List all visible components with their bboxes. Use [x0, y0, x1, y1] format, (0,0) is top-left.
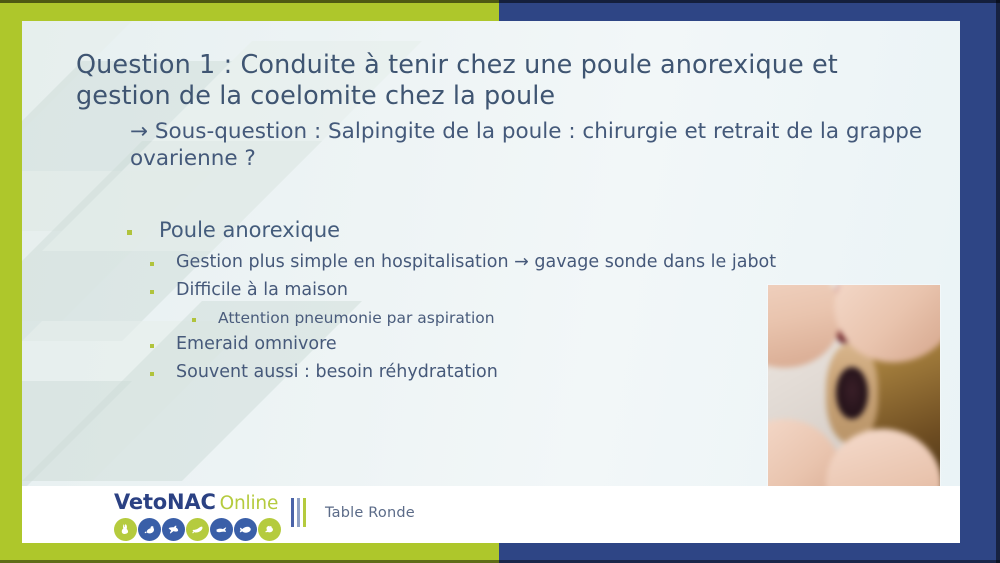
list-item-label: Souvent aussi : besoin réhydratation	[176, 362, 498, 383]
ferret-icon	[186, 518, 209, 541]
slide-title: Question 1 : Conduite à tenir chez une p…	[76, 50, 936, 112]
list-item: Emeraid omnivore	[150, 334, 337, 355]
presentation-frame: Question 1 : Conduite à tenir chez une p…	[0, 0, 1000, 563]
bullet-marker-icon	[150, 372, 154, 376]
logo-brand-secondary: Online	[216, 493, 278, 514]
list-item: Attention pneumonie par aspiration	[192, 309, 495, 328]
rabbit-icon	[114, 518, 137, 541]
list-item: Poule anorexique	[127, 218, 340, 242]
bullet-marker-icon	[150, 344, 154, 348]
slide-canvas: Question 1 : Conduite à tenir chez une p…	[22, 21, 960, 543]
list-item-label: Attention pneumonie par aspiration	[218, 309, 495, 328]
fish-icon	[234, 518, 257, 541]
list-item-label: Poule anorexique	[159, 218, 340, 242]
list-item-label: Emeraid omnivore	[176, 334, 337, 355]
species-icon-row	[114, 518, 281, 541]
bullet-marker-icon	[150, 290, 154, 294]
frame-top-edge	[0, 0, 1000, 3]
list-item-label: Gestion plus simple en hospitalisation →…	[176, 252, 776, 273]
rodent-icon	[138, 518, 161, 541]
vetonac-logo[interactable]: VetoNACOnline	[114, 491, 281, 541]
clinical-photo-gavage-hen	[768, 285, 940, 496]
reptile-icon	[210, 518, 233, 541]
logo-brand-primary: VetoNAC	[114, 490, 216, 514]
footer-section-label: Table Ronde	[325, 505, 415, 521]
list-item: Souvent aussi : besoin réhydratation	[150, 362, 498, 383]
list-item: Gestion plus simple en hospitalisation →…	[150, 252, 776, 273]
bullet-marker-icon	[192, 318, 196, 322]
amphibian-icon	[258, 518, 281, 541]
footer-divider-bars	[291, 498, 306, 527]
list-item-label: Difficile à la maison	[176, 280, 348, 301]
slide-sub-question: → Sous-question : Salpingite de la poule…	[130, 118, 930, 172]
bullet-marker-icon	[127, 230, 132, 235]
frame-right-edge	[996, 0, 1000, 563]
slide-footer: VetoNACOnline	[22, 486, 960, 543]
logo-wordmark: VetoNACOnline	[114, 491, 281, 515]
list-item: Difficile à la maison	[150, 280, 348, 301]
bullet-marker-icon	[150, 262, 154, 266]
bird-icon	[162, 518, 185, 541]
